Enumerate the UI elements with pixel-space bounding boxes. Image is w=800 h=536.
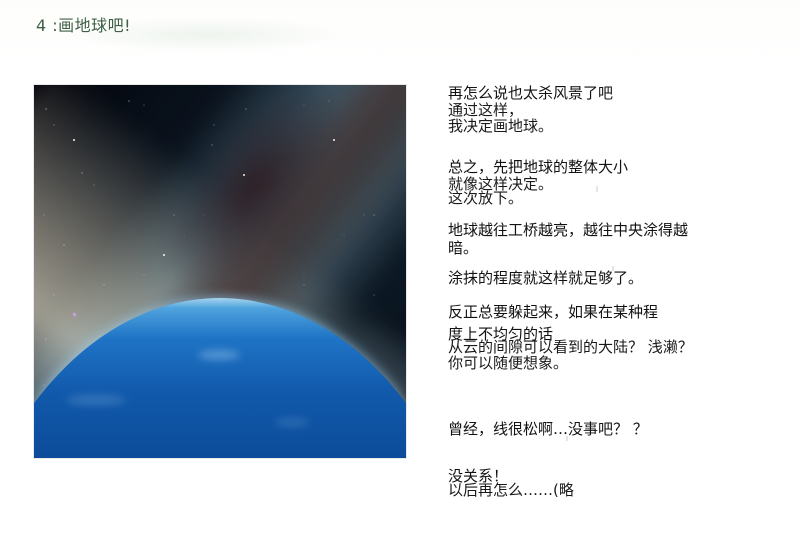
- text-line: 涂抹的程度就这样就足够了。: [448, 269, 643, 287]
- text-line: 你可以随便想象。: [448, 354, 568, 372]
- page-title: 4 :画地球吧!: [36, 15, 131, 37]
- violet-star: [73, 313, 76, 316]
- earth-cloud: [198, 350, 240, 360]
- text-line: 这次放下。: [448, 189, 523, 207]
- text-line: 总之，先把地球的整体大小: [448, 158, 628, 176]
- tutorial-reference-photo: [34, 85, 406, 458]
- earth-cloud: [275, 418, 309, 427]
- text-line: 反正总要躲起来，如果在某种程: [448, 303, 658, 321]
- text-line: 以后再怎么……(略: [448, 481, 574, 499]
- text-line: 地球越往工桥越亮，越往中央涂得越: [448, 221, 688, 239]
- page-canvas: 4 :画地球吧! 再怎么说也太杀风景了吧 通过这样， 我决定画地球。 总之，先把…: [0, 0, 800, 536]
- earth-cloud: [66, 394, 126, 406]
- text-line: 暗。: [448, 239, 478, 257]
- text-line: 再怎么说也太杀风景了吧: [448, 84, 613, 102]
- text-line: 曾经，线很松啊…没事吧？ ？: [448, 420, 648, 438]
- scan-speck: [596, 186, 598, 192]
- text-line: 我决定画地球。: [448, 117, 553, 135]
